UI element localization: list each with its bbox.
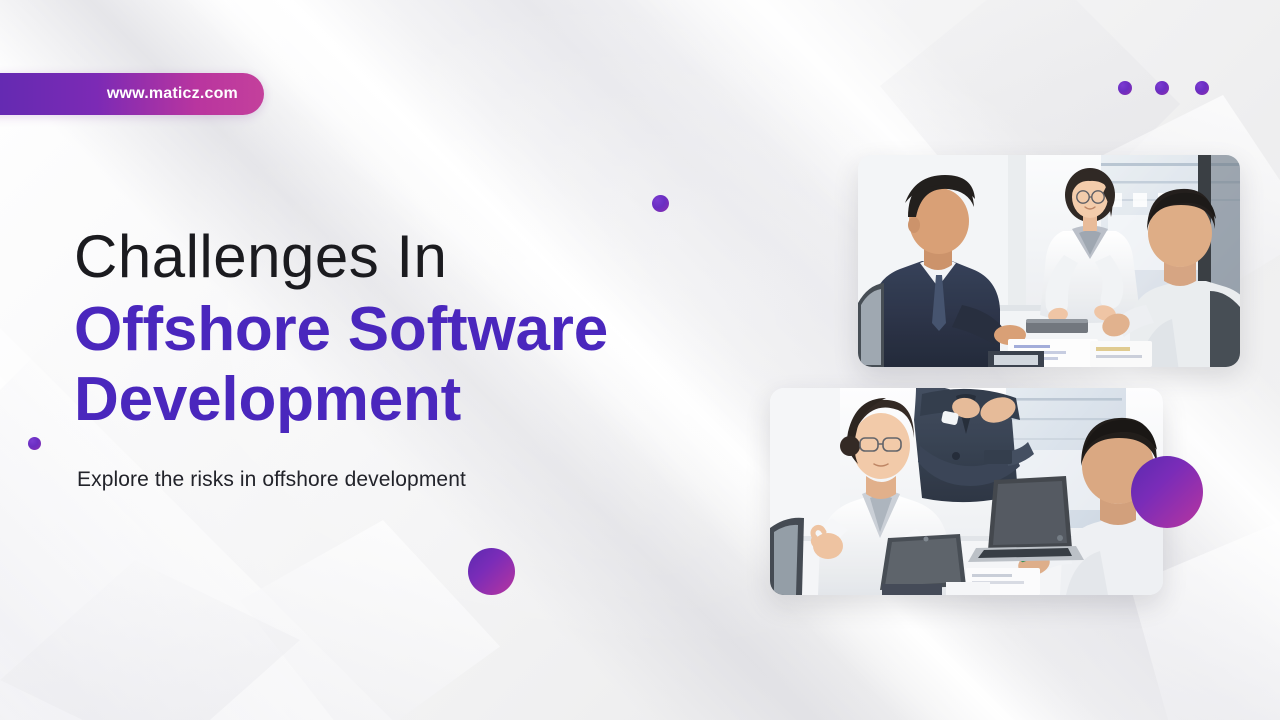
website-url-label: www.maticz.com (107, 85, 238, 103)
decor-circle-large (468, 548, 515, 595)
decor-dot-icon (1118, 81, 1132, 95)
decor-circle-xl (1131, 456, 1203, 528)
decor-dot-icon (652, 195, 669, 212)
page-title: Challenges In Offshore Software Developm… (74, 226, 834, 434)
headline-line-3: Development (74, 365, 834, 434)
headline-line-2: Offshore Software (74, 295, 834, 364)
decor-dot-icon (1195, 81, 1209, 95)
business-meeting-three-people-photo (858, 155, 1240, 367)
decor-dot-icon (28, 437, 41, 450)
team-discussion-laptop-photo (770, 388, 1163, 595)
subtitle-text: Explore the risks in offshore developmen… (77, 468, 466, 492)
photo-illustration (770, 388, 1163, 595)
presentation-slide: www.maticz.com Challenges In Offshore So… (0, 0, 1280, 720)
headline-line-1: Challenges In (74, 226, 834, 287)
decor-dot-icon (1155, 81, 1169, 95)
photo-illustration (858, 155, 1240, 367)
website-url-badge: www.maticz.com (0, 73, 264, 115)
